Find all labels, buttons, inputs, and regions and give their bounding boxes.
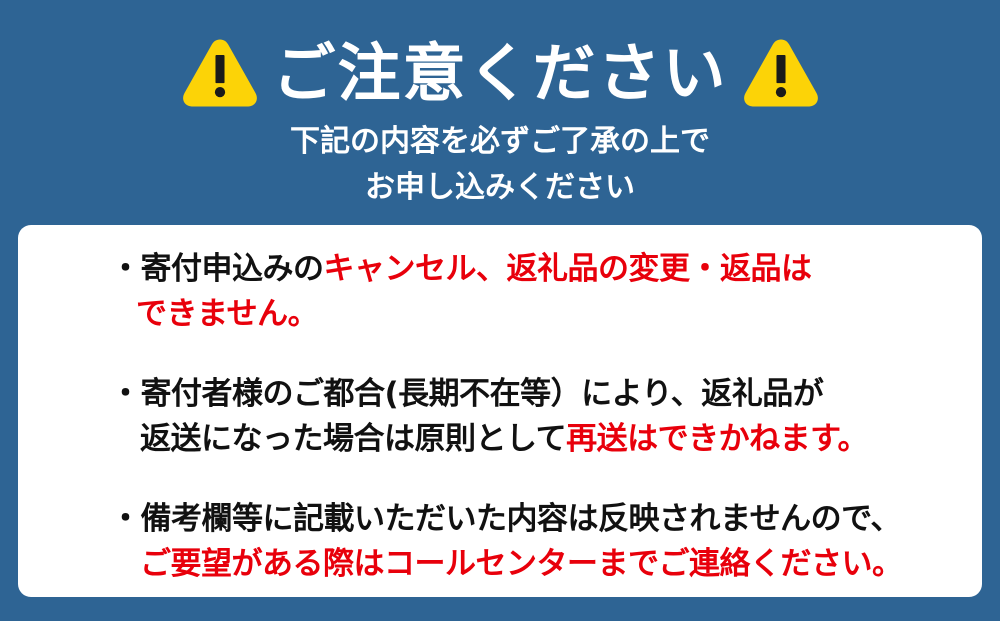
subtitle-line-2: お申し込みください <box>0 173 1000 203</box>
notice-segment: キャンセル、返礼品の変更・返品は <box>324 251 812 287</box>
notice-banner: ご注意ください 下記の内容を必ずご了承の上で お申し込みください ・寄付申込みの… <box>0 0 1000 621</box>
notice-line: ・寄付申込みのキャンセル、返礼品の変更・返品は <box>110 247 970 292</box>
notice-segment: ・備考欄等に記載いただいた内容は反映されませんので、 <box>110 501 901 537</box>
subtitle-line-1: 下記の内容を必ずご了承の上で <box>0 127 1000 157</box>
notice-item: ・寄付者様のご都合(長期不在等）により、返礼品が 返送になった場合は原則として再… <box>110 372 970 462</box>
warning-triangle-icon <box>742 36 820 110</box>
notice-item: ・備考欄等に記載いただいた内容は反映されませんので、 ご要望がある際はコールセン… <box>110 497 970 587</box>
page-title: ご注意ください <box>273 42 728 105</box>
notice-line: ・寄付者様のご都合(長期不在等）により、返礼品が <box>110 372 970 417</box>
notice-segment: ご要望がある際はコールセンターまでご連絡ください。 <box>140 546 903 582</box>
notice-segment: 再送はできかねます。 <box>566 421 868 457</box>
notice-line: ・備考欄等に記載いただいた内容は反映されませんので、 <box>110 497 970 542</box>
notice-segment: 返送になった場合は原則として <box>140 421 566 457</box>
notice-line: 返送になった場合は原則として再送はできかねます。 <box>110 417 970 462</box>
notice-line: ご要望がある際はコールセンターまでご連絡ください。 <box>110 542 970 587</box>
notice-segment: できません。 <box>136 296 318 332</box>
notice-segment: ・寄付者様のご都合(長期不在等）により、返礼品が <box>110 376 823 412</box>
title-row: ご注意ください <box>0 28 1000 118</box>
notice-line: できません。 <box>110 292 970 337</box>
notice-card: ・寄付申込みのキャンセル、返礼品の変更・返品は できません。 ・寄付者様のご都合… <box>18 225 982 597</box>
notice-item: ・寄付申込みのキャンセル、返礼品の変更・返品は できません。 <box>110 247 970 337</box>
notice-segment: ・寄付申込みの <box>110 251 324 287</box>
banner-header: ご注意ください 下記の内容を必ずご了承の上で お申し込みください <box>0 0 1000 222</box>
warning-triangle-icon <box>181 36 259 110</box>
